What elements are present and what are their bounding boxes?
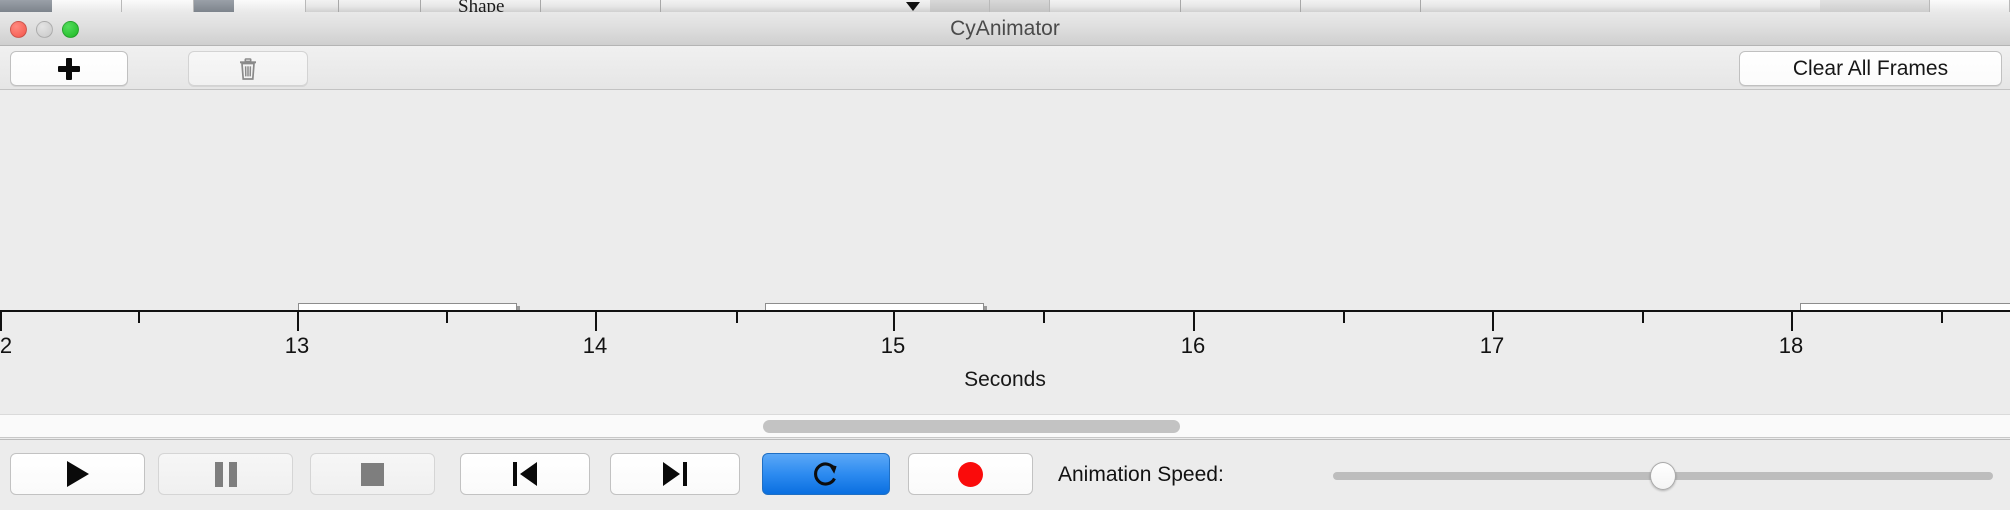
ruler-tick-major (1492, 312, 1494, 331)
ruler-baseline (0, 310, 2010, 312)
loop-toggle-button[interactable] (762, 453, 890, 495)
ruler-tick-minor (446, 312, 448, 323)
ruler-tick-minor (1941, 312, 1943, 323)
page-title: CyAnimator (0, 12, 2010, 46)
background-window-label: Shape (458, 0, 504, 12)
ruler-tick-minor (1642, 312, 1644, 323)
plus-icon (58, 58, 80, 80)
ruler-tick-major (0, 312, 2, 331)
ruler-tick-major (595, 312, 597, 331)
clear-all-frames-label: Clear All Frames (1793, 57, 1948, 81)
ruler-label: 13 (285, 333, 309, 359)
horizontal-scrollbar[interactable] (0, 414, 2010, 438)
add-frame-button[interactable] (10, 51, 128, 86)
trash-icon (239, 58, 257, 80)
ruler-tick-major (1193, 312, 1195, 331)
pause-button[interactable] (158, 453, 293, 495)
ruler-label: 17 (1480, 333, 1504, 359)
play-button[interactable] (10, 453, 145, 495)
timeline-canvas[interactable]: MCM1 (0, 90, 2010, 324)
stop-icon (361, 463, 384, 486)
play-icon (67, 461, 89, 487)
delete-frame-button[interactable] (188, 51, 308, 86)
scrollbar-thumb[interactable] (763, 420, 1180, 433)
timeline-ruler[interactable]: 2 13 14 15 16 17 18 Seconds (0, 310, 2010, 415)
title-bar: CyAnimator (0, 12, 2010, 46)
playback-control-bar: Animation Speed: (0, 439, 2010, 510)
ruler-tick-minor (736, 312, 738, 323)
animation-speed-slider[interactable] (1333, 472, 1993, 480)
ruler-label: 14 (583, 333, 607, 359)
skip-to-end-button[interactable] (610, 453, 740, 495)
toolbar: Clear All Frames (0, 46, 2010, 90)
ruler-label: 2 (0, 333, 12, 359)
slider-thumb[interactable] (1650, 462, 1676, 490)
ruler-label: 16 (1181, 333, 1205, 359)
loop-icon (812, 460, 840, 488)
ruler-tick-minor (1043, 312, 1045, 323)
ruler-tick-minor (1343, 312, 1345, 323)
ruler-label: 15 (881, 333, 905, 359)
ruler-tick-minor (138, 312, 140, 323)
skip-previous-icon (513, 462, 537, 486)
pause-icon (215, 462, 237, 487)
clear-all-frames-button[interactable]: Clear All Frames (1739, 51, 2002, 86)
ruler-label: 18 (1779, 333, 1803, 359)
animation-speed-label: Animation Speed: (1058, 463, 1224, 487)
axis-title: Seconds (0, 368, 2010, 392)
ruler-tick-major (297, 312, 299, 331)
record-button[interactable] (908, 453, 1033, 495)
cyanimator-window: Shape CyAnimator (0, 0, 2010, 510)
stop-button[interactable] (310, 453, 435, 495)
ruler-tick-major (1791, 312, 1793, 331)
record-icon (958, 462, 983, 487)
ruler-tick-major (893, 312, 895, 331)
skip-next-icon (663, 462, 687, 486)
background-window-strip: Shape (0, 0, 2010, 12)
skip-to-start-button[interactable] (460, 453, 590, 495)
